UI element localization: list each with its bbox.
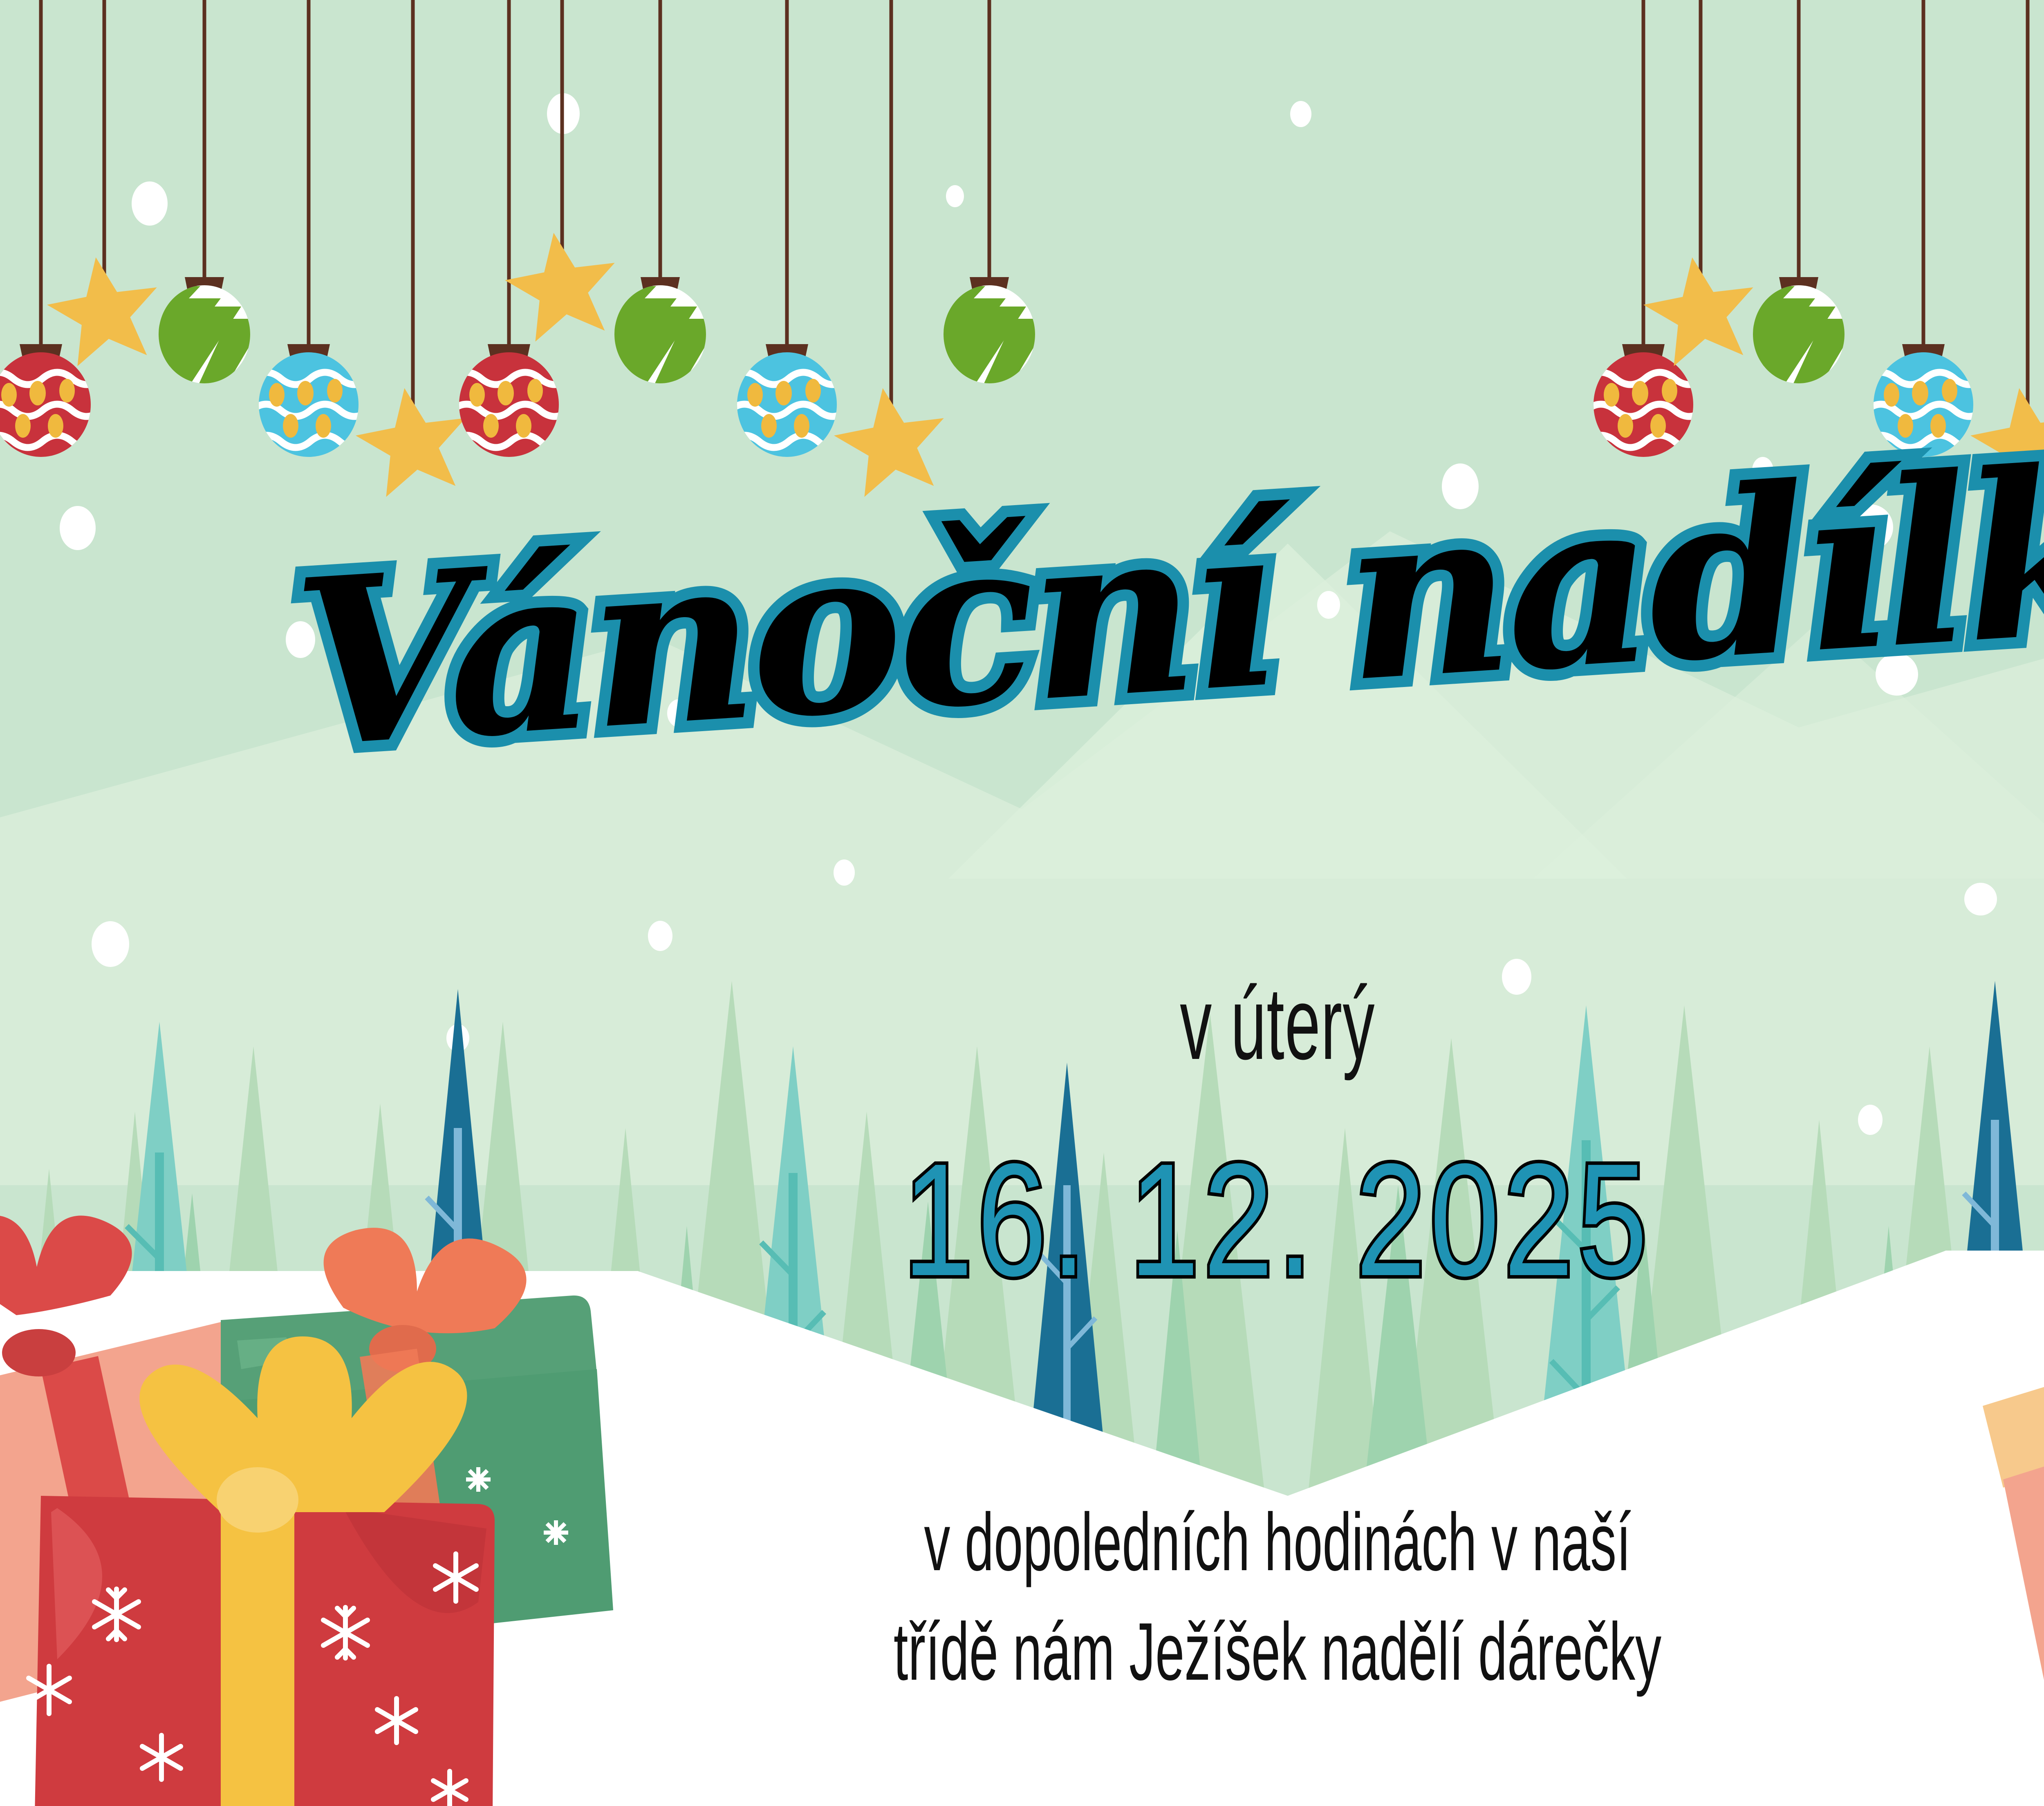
- christmas-poster: Vánoční nadílka v úterý 16. 12. 2025 v d…: [0, 0, 2044, 1806]
- note-line-2: třídě nám Ježíšek nadělí dárečky: [460, 1597, 2044, 1707]
- note-line-1: v dopoledních hodinách v naší: [460, 1488, 2044, 1597]
- event-date: 16. 12. 2025: [281, 1128, 2044, 1312]
- weekday-label: v úterý: [486, 965, 2044, 1083]
- note-block: v dopoledních hodinách v naší třídě nám …: [0, 1488, 2044, 1707]
